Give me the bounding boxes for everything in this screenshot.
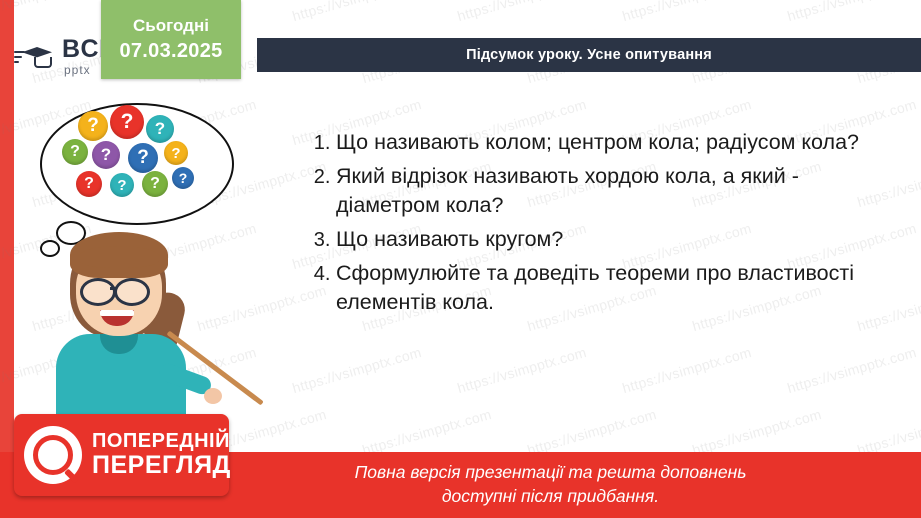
teacher-glasses-bridge	[110, 287, 116, 290]
slide-canvas: ??????????? Підсумок уроку. Усне опитува…	[0, 0, 921, 518]
question-mark-icon: ?	[164, 141, 188, 165]
question-mark-icon: ?	[142, 171, 168, 197]
watermark-text: https://vsimpptx.com	[290, 344, 423, 396]
watermark-text: https://vsimpptx.com	[620, 344, 753, 396]
watermark-text: https://vsimpptx.com	[525, 406, 658, 458]
question-item: Що називають кругом?	[336, 225, 900, 255]
date-badge-value: 07.03.2025	[119, 40, 222, 63]
question-item: Що називають колом; центром кола; радіус…	[336, 128, 900, 158]
question-mark-icon: ?	[78, 111, 108, 141]
question-mark-icon: ?	[128, 143, 158, 173]
left-accent-bar	[0, 0, 14, 518]
question-mark-icon: ?	[172, 167, 194, 189]
question-mark-icon: ?	[146, 115, 174, 143]
teacher-teeth	[100, 310, 134, 316]
question-list: Що називають колом; центром кола; радіус…	[300, 128, 900, 318]
teacher-glasses-left	[80, 278, 116, 306]
preview-badge[interactable]: ПОПЕРЕДНІЙ ПЕРЕГЛЯД	[14, 414, 229, 496]
magnifier-icon	[24, 426, 82, 484]
watermark-text: https://vsimpptx.com	[855, 406, 921, 458]
watermark-text: https://vsimpptx.com	[360, 406, 493, 458]
preview-badge-line1: ПОПЕРЕДНІЙ	[92, 431, 231, 452]
watermark-text: https://vsimpptx.com	[690, 406, 823, 458]
bottom-banner-line2: доступні після придбання.	[355, 485, 747, 509]
watermark-text: https://vsimpptx.com	[455, 344, 588, 396]
question-mark-icon: ?	[92, 141, 120, 169]
question-list-container: Що називають колом; центром кола; радіус…	[300, 128, 900, 322]
page-title: Підсумок уроку. Усне опитування	[466, 47, 712, 63]
preview-badge-line2: ПЕРЕГЛЯД	[92, 452, 231, 478]
date-badge: Сьогодні 07.03.2025	[101, 0, 241, 79]
question-mark-icon: ?	[110, 105, 144, 139]
date-badge-label: Сьогодні	[133, 16, 209, 36]
header-bar: Підсумок уроку. Усне опитування	[257, 38, 921, 72]
question-item: Який відрізок називають хордою кола, а я…	[336, 162, 900, 221]
question-item: Сформулюйте та доведіть теореми про влас…	[336, 259, 900, 318]
question-mark-icon: ?	[110, 173, 134, 197]
bottom-banner-line1: Повна версія презентації та решта доповн…	[355, 461, 747, 485]
teacher-hand	[204, 388, 222, 404]
teacher-illustration	[18, 230, 238, 430]
teacher-glasses-right	[114, 278, 150, 306]
teacher-fringe	[78, 246, 160, 268]
question-mark-icon: ?	[76, 171, 102, 197]
watermark-text: https://vsimpptx.com	[785, 344, 918, 396]
question-mark-icon: ?	[62, 139, 88, 165]
graduation-cap-icon	[14, 39, 58, 73]
